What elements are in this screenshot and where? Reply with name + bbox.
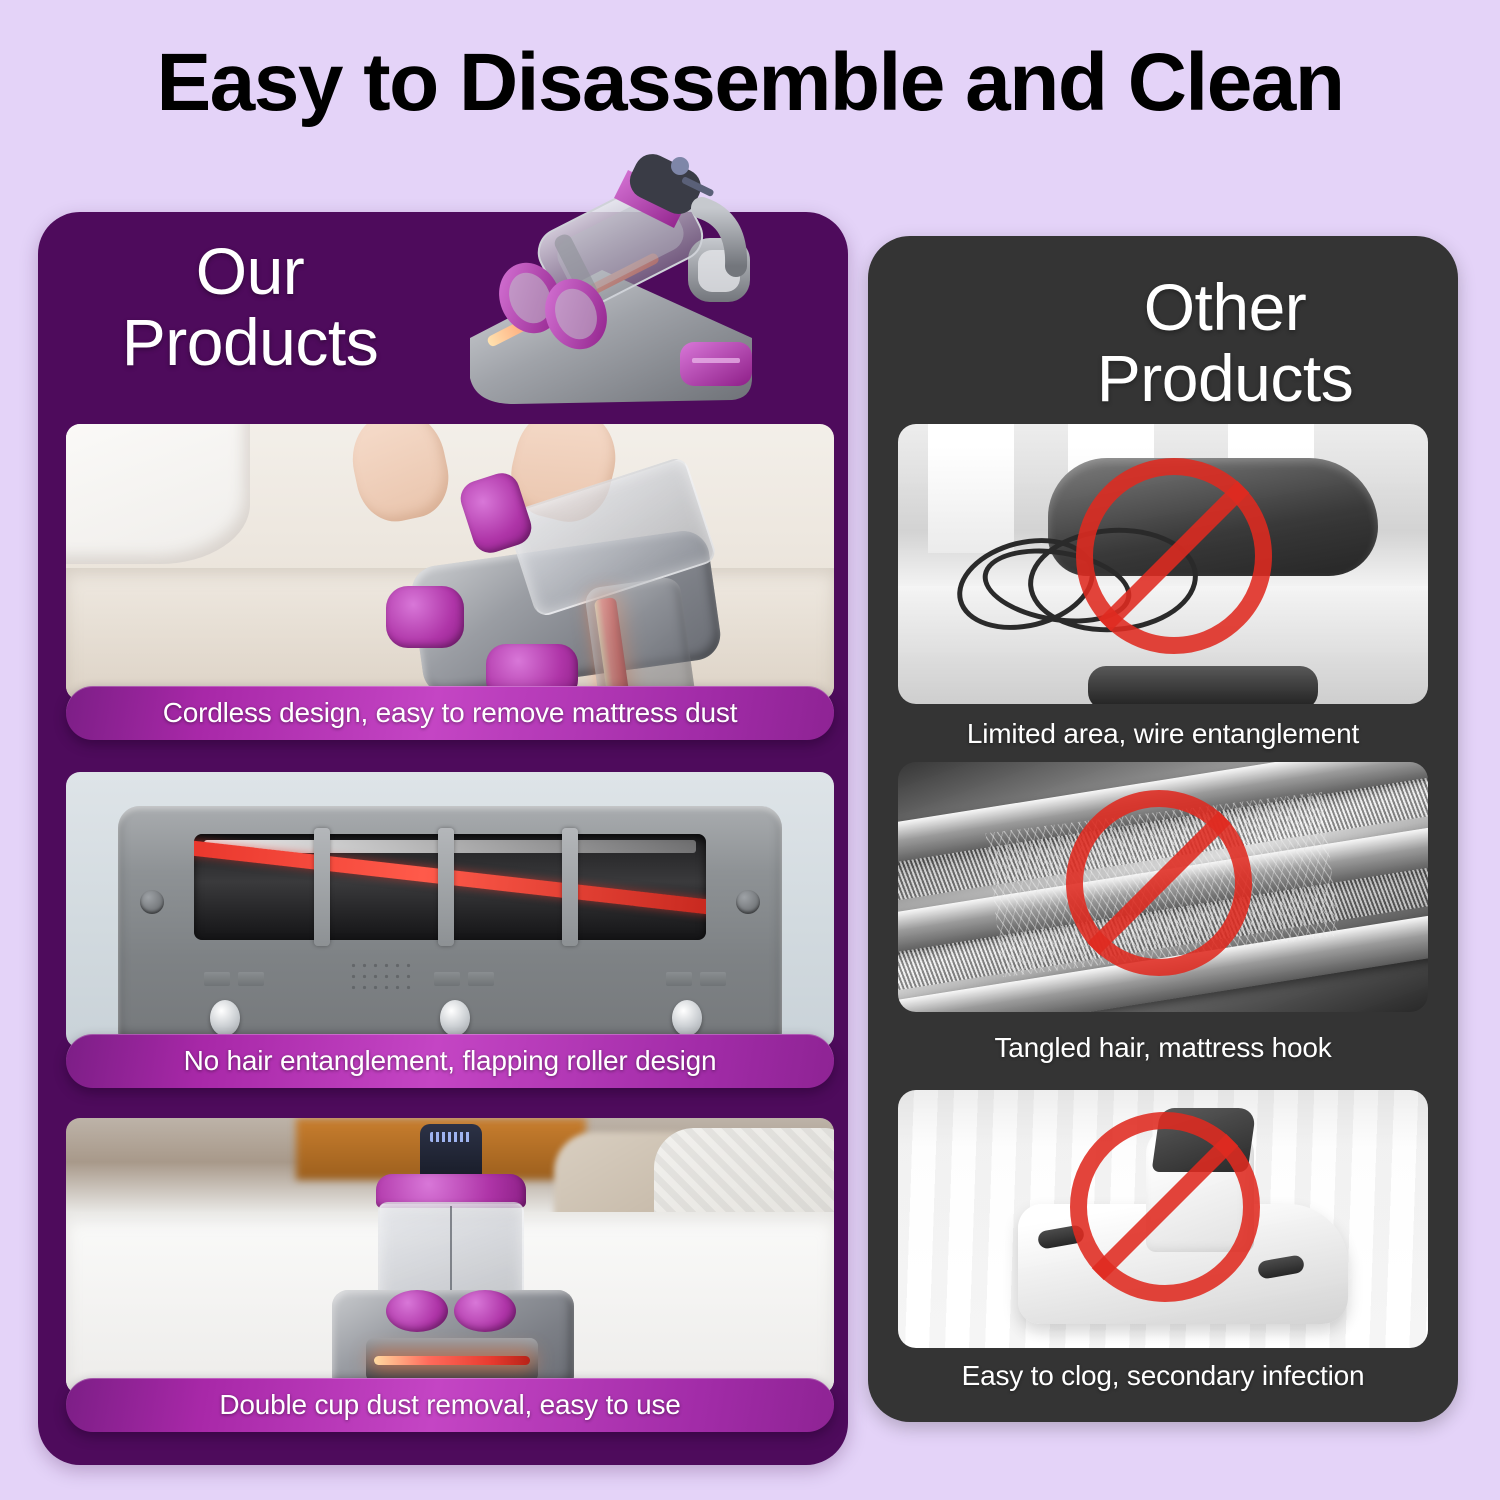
other-products-heading-line1: Other bbox=[1010, 272, 1440, 343]
our-product-caption-2: No hair entanglement, flapping roller de… bbox=[66, 1034, 834, 1088]
hands-vacuuming-mattress-photo bbox=[66, 424, 834, 700]
roller-rib bbox=[562, 828, 578, 946]
flapping-roller-brush-head-photo bbox=[66, 772, 834, 1048]
uv-light-bar bbox=[374, 1356, 530, 1365]
brush-head-housing bbox=[118, 806, 782, 1042]
other-product-image-1 bbox=[898, 424, 1428, 704]
display-bars bbox=[430, 1132, 472, 1142]
mattress-vacuum-illustration bbox=[452, 142, 772, 422]
latch-marking bbox=[238, 972, 264, 986]
person-legs bbox=[66, 424, 250, 564]
hero-product-image bbox=[452, 142, 772, 422]
dust-cup-base-right bbox=[454, 1290, 516, 1332]
vacuum-in-use bbox=[366, 458, 766, 698]
latch-marking bbox=[666, 972, 692, 986]
latch-marking bbox=[434, 972, 460, 986]
housing-bolt-right bbox=[736, 890, 760, 914]
prohibition-sign bbox=[1066, 790, 1252, 976]
our-product-caption-1: Cordless design, easy to remove mattress… bbox=[66, 686, 834, 740]
other-product-caption-1: Limited area, wire entanglement bbox=[878, 718, 1448, 750]
our-product-image-3 bbox=[66, 1118, 834, 1394]
release-button bbox=[672, 1000, 702, 1036]
other-products-heading: Other Products bbox=[1010, 272, 1440, 415]
release-button bbox=[440, 1000, 470, 1036]
our-product-caption-3: Double cup dust removal, easy to use bbox=[66, 1378, 834, 1432]
prohibition-sign bbox=[1076, 458, 1272, 654]
other-product-image-2 bbox=[898, 762, 1428, 1012]
our-products-heading-line1: Our bbox=[60, 236, 440, 307]
our-product-image-1 bbox=[66, 424, 834, 700]
latch-marking bbox=[468, 972, 494, 986]
air-vent-holes bbox=[348, 960, 416, 994]
prohibition-sign bbox=[1070, 1112, 1260, 1302]
roller-rib bbox=[438, 828, 454, 946]
vacuum-wand bbox=[1088, 666, 1318, 704]
our-products-heading: Our Products bbox=[60, 236, 440, 379]
release-button bbox=[210, 1000, 240, 1036]
vacuum-standing bbox=[304, 1124, 604, 1386]
housing-bolt-left bbox=[140, 890, 164, 914]
other-product-image-3 bbox=[898, 1090, 1428, 1348]
other-product-caption-3: Easy to clog, secondary infection bbox=[878, 1360, 1448, 1392]
latch-marking bbox=[700, 972, 726, 986]
our-product-image-2 bbox=[66, 772, 834, 1048]
roller-rib bbox=[314, 828, 330, 946]
page-title: Easy to Disassemble and Clean bbox=[0, 36, 1500, 130]
window-left bbox=[928, 424, 1014, 553]
dust-cup-base-left bbox=[386, 1290, 448, 1332]
latch-marking bbox=[204, 972, 230, 986]
our-products-heading-line2: Products bbox=[60, 307, 440, 378]
other-products-heading-line2: Products bbox=[1010, 343, 1440, 414]
other-product-caption-2: Tangled hair, mattress hook bbox=[878, 1032, 1448, 1064]
double-dust-cup-vacuum-on-bed-photo bbox=[66, 1118, 834, 1394]
